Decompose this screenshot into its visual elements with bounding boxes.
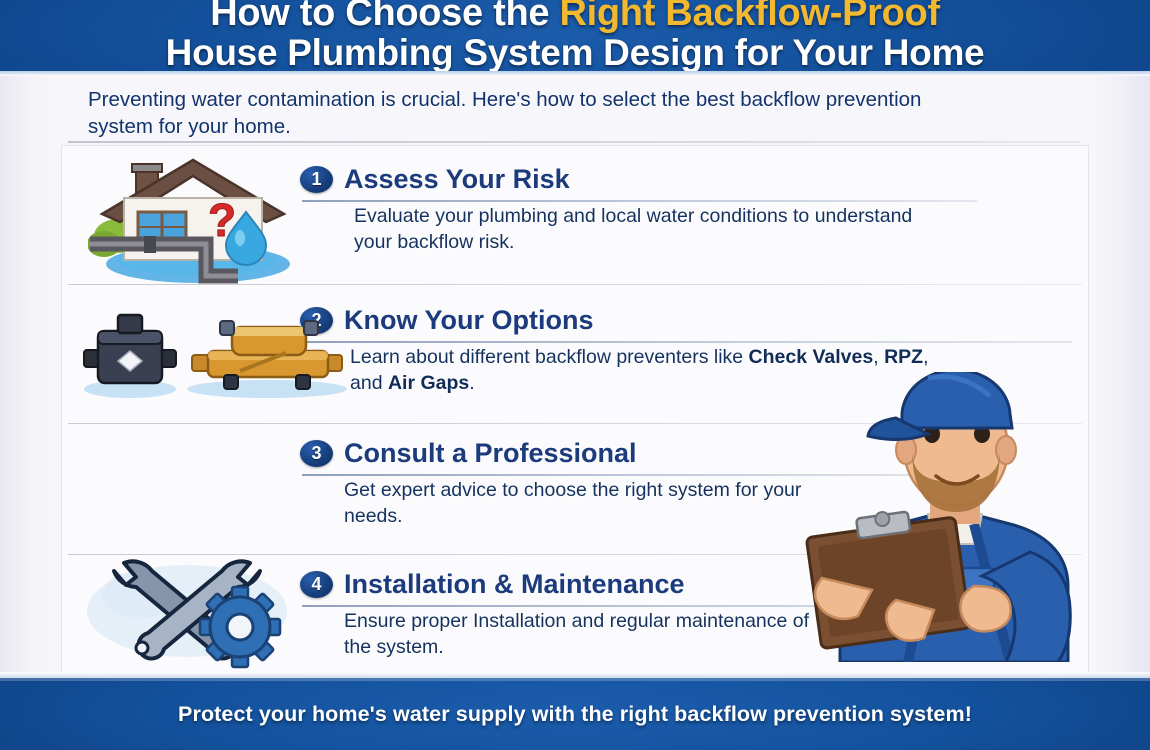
step-1-title: Assess Your Risk	[344, 164, 570, 195]
step-2-body-text-4: .	[469, 372, 474, 394]
step-4-number-badge: 4	[300, 571, 333, 598]
check-valve-and-rpz-backflow-preventer-icon	[72, 303, 362, 408]
step-4-heading: 4 Installation & Maintenance	[300, 569, 685, 600]
house-with-question-mark-and-water-drop-icon: ?	[88, 152, 298, 287]
title-line-2: House Plumbing System Design for Your Ho…	[0, 34, 1150, 72]
crossed-wrenches-with-gear-icon	[82, 549, 302, 669]
step-3-title: Consult a Professional	[344, 438, 637, 469]
step-4-title: Installation & Maintenance	[344, 569, 685, 600]
title-line-1: How to Choose the Right Backflow-Proof	[0, 0, 1150, 33]
step-1-heading: 1 Assess Your Risk	[300, 164, 570, 195]
step-1: 1 Assess Your Risk Evaluate your plumbin…	[62, 146, 1088, 286]
step-2-term-air-gaps: Air Gaps	[388, 372, 469, 394]
step-2-body-text-2: ,	[873, 346, 884, 368]
step-3-number-badge: 3	[300, 440, 333, 467]
intro-divider	[68, 141, 1080, 143]
title-accent-text: Right Backflow-Proof	[559, 0, 939, 34]
title-block: How to Choose the Right Backflow-Proof H…	[0, 0, 1150, 71]
step-4-body-text: Ensure proper Installation and regular m…	[344, 610, 809, 658]
footer-banner: Protect your home's water supply with th…	[0, 678, 1150, 750]
step-3-body: Get expert advice to choose the right sy…	[344, 478, 804, 529]
step-1-body: Evaluate your plumbing and local water c…	[354, 204, 934, 255]
step-2-term-check-valves: Check Valves	[749, 346, 874, 368]
title-plain-text: How to Choose the	[210, 0, 559, 34]
step-1-number-badge: 1	[300, 166, 333, 193]
step-3-body-text: Get expert advice to choose the right sy…	[344, 479, 801, 527]
plumber-with-clipboard-icon	[778, 372, 1098, 662]
step-2-term-rpz: RPZ	[884, 346, 923, 368]
intro-paragraph: Preventing water contamination is crucia…	[88, 86, 968, 140]
step-4-body: Ensure proper Installation and regular m…	[344, 609, 814, 660]
step-1-title-rule	[302, 200, 977, 202]
step-2-title: Know Your Options	[344, 305, 594, 336]
footer-call-to-action: Protect your home's water supply with th…	[178, 702, 972, 727]
infographic-poster: How to Choose the Right Backflow-Proof H…	[0, 0, 1150, 750]
header-banner: How to Choose the Right Backflow-Proof H…	[0, 0, 1150, 76]
step-2-body-text-1: Learn about different backflow preventer…	[350, 346, 749, 368]
step-3-heading: 3 Consult a Professional	[300, 438, 637, 469]
step-1-body-text: Evaluate your plumbing and local water c…	[354, 205, 912, 253]
step-2-title-rule	[302, 341, 1072, 343]
